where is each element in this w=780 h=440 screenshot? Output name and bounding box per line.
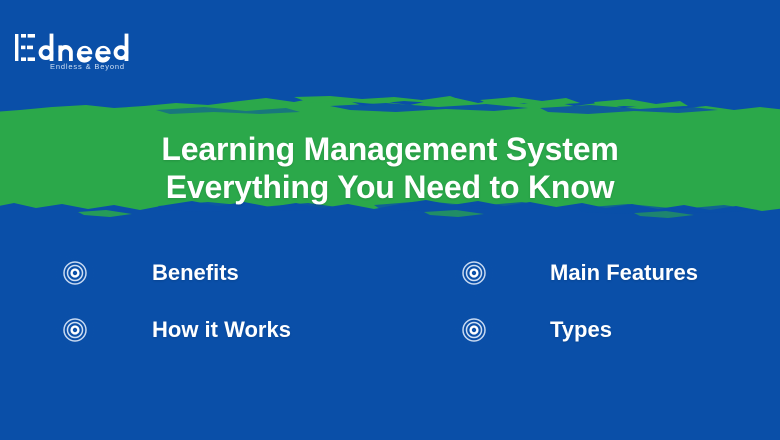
topic-item-benefits[interactable]: Benefits: [0, 244, 400, 301]
topic-label: How it Works: [152, 317, 291, 343]
brand-logo: Endless & Beyond: [14, 33, 174, 81]
title-line-2: Everything You Need to Know: [0, 168, 780, 206]
edneed-wordmark-icon: [14, 33, 174, 63]
radial-burst-icon: [448, 304, 500, 356]
title-line-1: Learning Management System: [0, 130, 780, 168]
topic-item-types[interactable]: Types: [400, 301, 780, 358]
slide-canvas: Endless & Beyond Learning Management Sys…: [0, 0, 780, 440]
topic-label: Main Features: [550, 260, 698, 286]
topic-label: Benefits: [152, 260, 239, 286]
brand-tagline: Endless & Beyond: [50, 62, 125, 71]
topic-list: Benefits Main Featur: [0, 244, 780, 358]
topic-item-how-it-works[interactable]: How it Works: [0, 301, 400, 358]
radial-burst-icon: [448, 247, 500, 299]
page-title: Learning Management System Everything Yo…: [0, 130, 780, 206]
topic-label: Types: [550, 317, 612, 343]
radial-burst-icon: [49, 247, 101, 299]
topic-item-main-features[interactable]: Main Features: [400, 244, 780, 301]
radial-burst-icon: [49, 304, 101, 356]
